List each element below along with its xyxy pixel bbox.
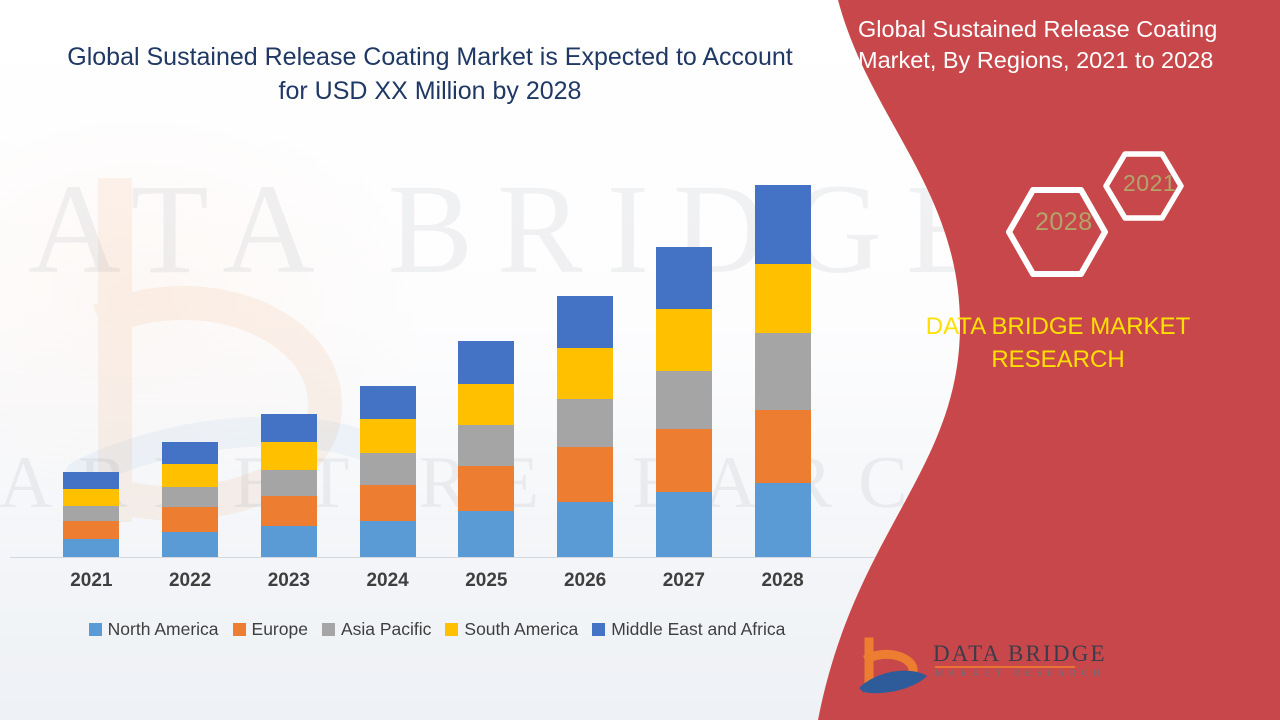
legend-swatch-icon [322,623,335,636]
bar-segment [63,506,119,521]
bar-segment [261,526,317,558]
chart-legend: North AmericaEuropeAsia PacificSouth Ame… [42,613,832,645]
bar-segment [557,502,613,558]
bar-segment [261,442,317,470]
brand-name-line-2: RESEARCH [858,343,1258,376]
bar-segment [755,483,811,558]
bar-segment [458,511,514,558]
legend-item[interactable]: Asia Pacific [322,619,431,640]
bar-column [360,160,416,558]
hexagon-label-end-year: 2028 [1035,208,1093,237]
bar-segment [458,466,514,511]
bar-segment [261,496,317,526]
legend-item[interactable]: North America [89,619,219,640]
bar-segment [63,489,119,506]
bar-column [755,160,811,558]
x-axis-label: 2025 [458,570,514,592]
bar-segment [656,429,712,493]
bar-segment [755,410,811,483]
legend-item[interactable]: South America [445,619,578,640]
bar-segment [162,507,218,531]
company-logo: DATA BRIDGE MARKET RESEARCH [855,636,1085,698]
brand-name-line-1: DATA BRIDGE MARKET [858,310,1258,343]
bar-segment [755,333,811,410]
bar-column [656,160,712,558]
bar-segment [360,485,416,521]
legend-label: Middle East and Africa [611,619,785,640]
x-axis-label: 2022 [162,570,218,592]
bar-column [162,160,218,558]
bar-segment [458,341,514,384]
legend-label: North America [108,619,219,640]
brand-name: DATA BRIDGE MARKET RESEARCH [858,310,1258,376]
x-axis-label: 2028 [755,570,811,592]
bar-segment [557,296,613,348]
bar-segment [360,386,416,420]
chart-plot-area [42,160,832,558]
hexagon-group: 2021 2028 [1005,148,1205,278]
bar-segment [261,470,317,496]
legend-swatch-icon [233,623,246,636]
chart-title: Global Sustained Release Coating Market … [60,40,800,108]
bar-column [557,160,613,558]
bar-segment [557,348,613,399]
bar-segment [656,371,712,429]
x-axis-label: 2027 [656,570,712,592]
legend-label: Asia Pacific [341,619,431,640]
right-panel-content: Global Sustained Release Coating Market,… [840,0,1280,720]
x-axis-label: 2024 [360,570,416,592]
legend-item[interactable]: Europe [233,619,308,640]
bar-segment [360,521,416,558]
legend-item[interactable]: Middle East and Africa [592,619,785,640]
bar-segment [360,419,416,453]
bar-segment [162,464,218,486]
legend-swatch-icon [89,623,102,636]
bar-column [458,160,514,558]
bar-segment [557,399,613,448]
legend-label: Europe [252,619,308,640]
logo-subtitle: MARKET RESEARCH [935,669,1105,679]
bar-segment [755,264,811,333]
x-axis-label: 2023 [261,570,317,592]
bar-segment [656,247,712,309]
bar-segment [656,492,712,558]
x-axis-label: 2026 [557,570,613,592]
bar-segment [162,442,218,464]
bar-segment [63,521,119,540]
bar-column [63,160,119,558]
legend-swatch-icon [445,623,458,636]
x-axis-label: 2021 [63,570,119,592]
bar-segment [63,539,119,558]
bar-segment [162,532,218,558]
bar-segment [656,309,712,371]
bar-segment [755,185,811,264]
legend-swatch-icon [592,623,605,636]
bar-segment [63,472,119,489]
bar-segment [557,447,613,501]
panel-title: Global Sustained Release Coating Market,… [858,14,1258,76]
logo-bridge-icon [855,636,931,696]
bar-segment [261,414,317,442]
logo-title: DATA BRIDGE [933,641,1107,667]
bar-column [261,160,317,558]
bar-segment [458,425,514,466]
legend-label: South America [464,619,578,640]
bar-segment [162,487,218,508]
x-axis-labels: 20212022202320242025202620272028 [42,564,832,598]
bar-segment [360,453,416,485]
hexagon-label-start-year: 2021 [1123,170,1176,197]
bar-segment [458,384,514,425]
stacked-bar-series-container [42,160,832,558]
